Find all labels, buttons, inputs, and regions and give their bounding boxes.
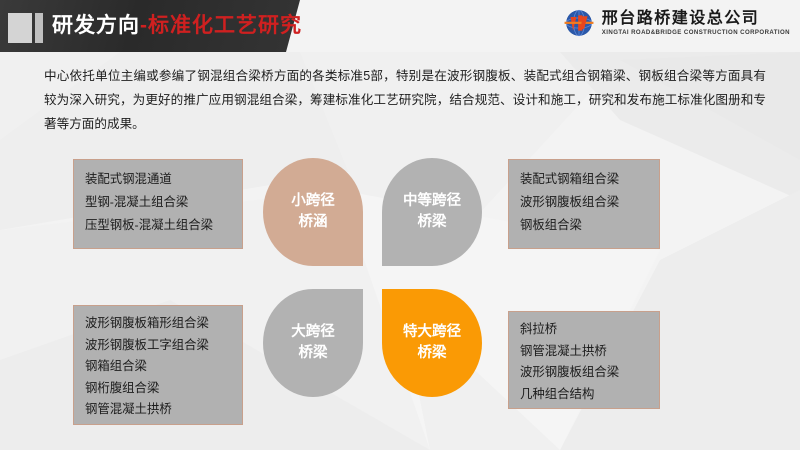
- page-title-dash: -: [140, 14, 148, 37]
- petal-label-small-span: 小跨径 桥涵: [291, 191, 335, 233]
- page-title-main: 研发方向: [52, 14, 140, 37]
- logo-company-name-cn: 邢台路桥建设总公司: [602, 9, 790, 28]
- petal-medium-span-bridge: 中等跨径 桥梁: [382, 158, 482, 266]
- petal-extra-large-span-bridge: 特大跨径 桥梁: [382, 289, 482, 397]
- petal-label-medium-span: 中等跨径 桥梁: [403, 191, 461, 233]
- logo-text: 邢台路桥建设总公司 XINGTAI ROAD&BRIDGE CONSTRUCTI…: [602, 9, 790, 37]
- petal-large-span-bridge: 大跨径 桥梁: [263, 289, 363, 397]
- info-box-bottom-left: 波形钢腹板箱形组合梁 波形钢腹板工字组合梁 钢箱组合梁 钢桁腹组合梁 钢管混凝土…: [73, 305, 243, 425]
- company-logo: 邢台路桥建设总公司 XINGTAI ROAD&BRIDGE CONSTRUCTI…: [562, 6, 790, 40]
- logo-company-name-en: XINGTAI ROAD&BRIDGE CONSTRUCTION CORPORA…: [602, 28, 790, 37]
- header-accent-bar-small: [35, 13, 43, 43]
- info-box-top-left: 装配式钢混通道 型钢-混凝土组合梁 压型钢板-混凝土组合梁: [73, 159, 243, 249]
- body-paragraph: 中心依托单位主编或参编了钢混组合梁桥方面的各类标准5部，特别是在波形钢腹板、装配…: [44, 64, 766, 136]
- petal-label-large-span: 大跨径 桥梁: [291, 322, 335, 364]
- page-title: 研发方向-标准化工艺研究: [52, 11, 302, 41]
- petal-small-span-culvert: 小跨径 桥涵: [263, 158, 363, 266]
- header-accent-bar-large: [8, 13, 32, 43]
- xingtai-bridge-emblem-icon: [562, 6, 596, 40]
- page-title-sub: 标准化工艺研究: [148, 14, 302, 37]
- slide-canvas: 研发方向-标准化工艺研究 邢台路桥建设总公司 XINGTAI ROAD&BRID…: [0, 0, 800, 450]
- info-box-top-right: 装配式钢箱组合梁 波形钢腹板组合梁 钢板组合梁: [508, 159, 660, 249]
- info-box-bottom-right: 斜拉桥 钢管混凝土拱桥 波形钢腹板组合梁 几种组合结构: [508, 311, 660, 409]
- petal-label-extra-large-span: 特大跨径 桥梁: [403, 322, 461, 364]
